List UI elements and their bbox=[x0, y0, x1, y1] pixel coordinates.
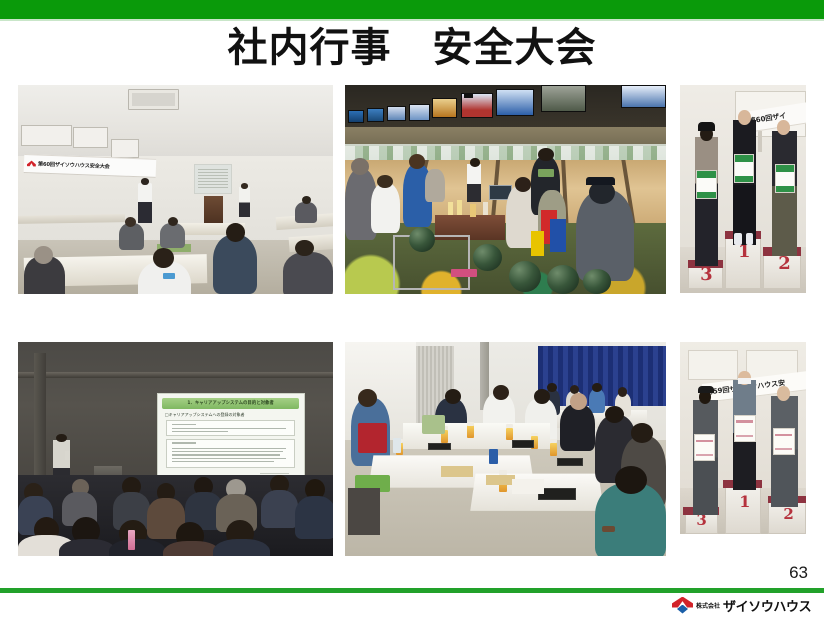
company-name: ザイソウハウス bbox=[723, 596, 811, 615]
photo-award-podium-59th: 第59回ザイソウハウス安 3 1 2 bbox=[680, 342, 806, 534]
slide-title-bar: 1．キャリアアップシステムの目的と対象者 bbox=[162, 398, 299, 409]
bottom-accent-rule bbox=[0, 588, 824, 593]
photo-safety-convention-hall: 第60回ザイソウハウス安全大会 bbox=[18, 85, 333, 294]
zaiso-roof-mark-icon bbox=[27, 160, 36, 166]
photo-seminar-projector: 1．キャリアアップシステムの目的と対象者 □キャリアアップシステムへの登録の対象… bbox=[18, 342, 333, 556]
podium-place-2: 2 bbox=[778, 253, 791, 274]
footer-company-logo: 株式会社 ザイソウハウス bbox=[672, 596, 811, 614]
company-prefix: 株式会社 bbox=[696, 601, 720, 610]
zaiso-house-roof-logo-icon bbox=[672, 597, 693, 614]
projector-screen: 1．キャリアアップシステムの目的と対象者 □キャリアアップシステムへの登録の対象… bbox=[157, 393, 305, 481]
podium59-place-1: 1 bbox=[739, 492, 750, 511]
top-accent-bar bbox=[0, 0, 824, 19]
photo-award-podium-60th: 第60回ザイ 3 1 2 bbox=[680, 85, 806, 293]
top-accent-bar-shadow bbox=[0, 19, 824, 21]
photo-bowling-tournament bbox=[345, 85, 666, 294]
podium59-place-2: 2 bbox=[783, 505, 793, 523]
slide-canvas: 社内行事 安全大会 第60回ザイソウハウス安全大会 bbox=[0, 0, 824, 618]
page-number: 63 bbox=[789, 563, 808, 583]
podium-place-3: 3 bbox=[700, 264, 713, 285]
page-title: 社内行事 安全大会 bbox=[0, 24, 824, 72]
photo-group-meeting-tables bbox=[345, 342, 666, 556]
slide-subtitle: □キャリアアップシステムへの登録の対象者 bbox=[165, 412, 245, 418]
convention-banner-text: 第60回ザイソウハウス安全大会 bbox=[38, 160, 110, 170]
ceiling-ac-unit bbox=[128, 89, 178, 110]
